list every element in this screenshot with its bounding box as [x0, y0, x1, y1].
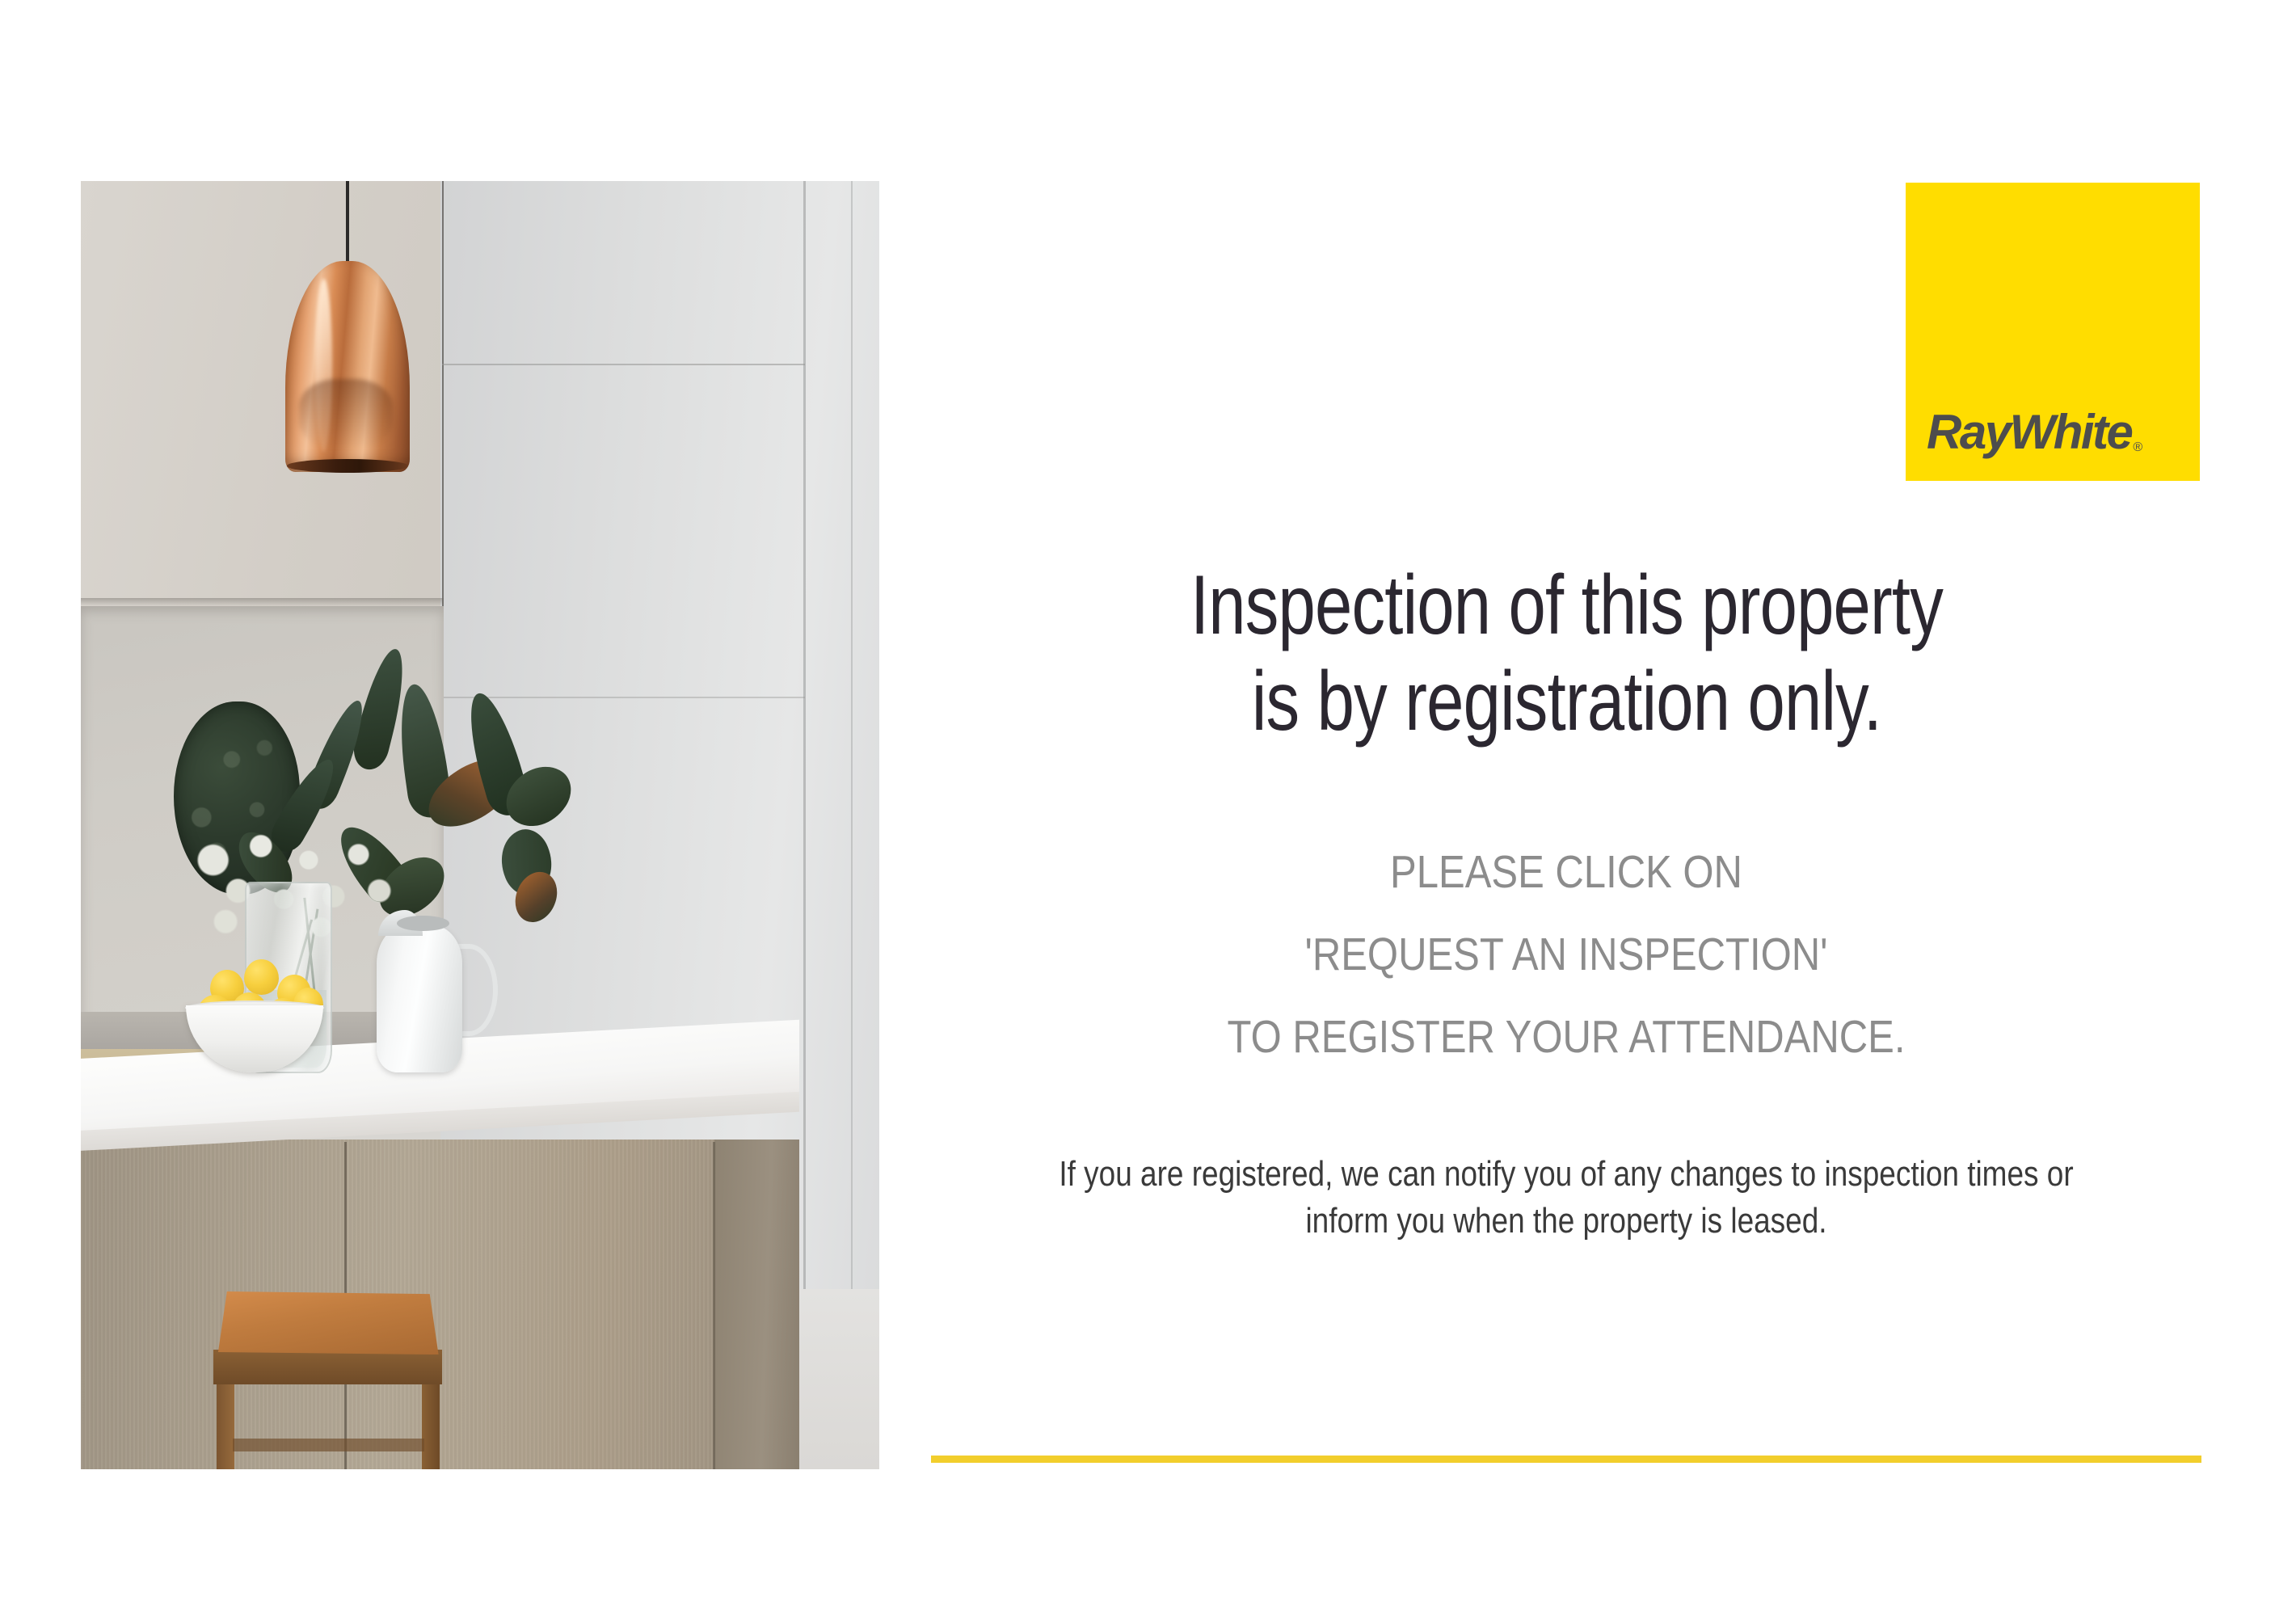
- instruction-line-1: PLEASE CLICK ON: [1020, 849, 2113, 895]
- cabinet-seam-horizontal-2: [442, 697, 806, 698]
- timber-stool-icon: [218, 1291, 439, 1354]
- pendant-light-rim: [287, 459, 408, 473]
- message-column: Inspection of this property is by regist…: [931, 558, 2201, 1245]
- instruction-block: PLEASE CLICK ON 'REQUEST AN INSPECTION' …: [931, 849, 2201, 1060]
- instruction-line-3: TO REGISTER YOUR ATTENDANCE.: [1020, 1014, 2113, 1060]
- headline-line-1: Inspection of this property: [931, 558, 2201, 654]
- lemon: [244, 959, 279, 996]
- pendant-light-cord: [346, 181, 349, 266]
- island-cabinet-return: [714, 1140, 799, 1469]
- body-line-2: inform you when the property is leased.: [1033, 1198, 2100, 1245]
- island-cabinet-body: [81, 1140, 799, 1469]
- ray-white-logo-box: RayWhite ®: [1906, 183, 2200, 481]
- pendant-light-reflection: [299, 379, 394, 449]
- alcove-shadow: [81, 598, 444, 606]
- stool-leg-left: [217, 1382, 234, 1469]
- stool-rail: [233, 1439, 424, 1451]
- headline: Inspection of this property is by regist…: [931, 558, 2201, 749]
- cabinet-seam-horizontal-1: [442, 364, 806, 365]
- ray-white-logo-text: RayWhite: [1927, 408, 2131, 457]
- stool-leg-right: [422, 1382, 440, 1469]
- headline-line-2: is by registration only.: [931, 654, 2201, 750]
- yellow-divider-rule: [931, 1456, 2201, 1463]
- instruction-line-2: 'REQUEST AN INSPECTION': [1020, 932, 2113, 978]
- cabinet-seam-vertical-2: [803, 181, 806, 1469]
- jug-mouth: [397, 916, 449, 931]
- island-corner-edge: [713, 1142, 715, 1469]
- ceramic-jug: [377, 925, 463, 1072]
- kitchen-scene: [81, 181, 879, 1469]
- body-line-1: If you are registered, we can notify you…: [1033, 1151, 2100, 1198]
- stool-apron: [213, 1350, 442, 1384]
- body-copy: If you are registered, we can notify you…: [931, 1151, 2201, 1245]
- cabinet-seam-vertical-3: [851, 181, 853, 1469]
- property-photo: [81, 181, 879, 1469]
- registered-trademark-icon: ®: [2133, 441, 2142, 454]
- poster-canvas: RayWhite ® Inspection of this property i…: [0, 0, 2296, 1622]
